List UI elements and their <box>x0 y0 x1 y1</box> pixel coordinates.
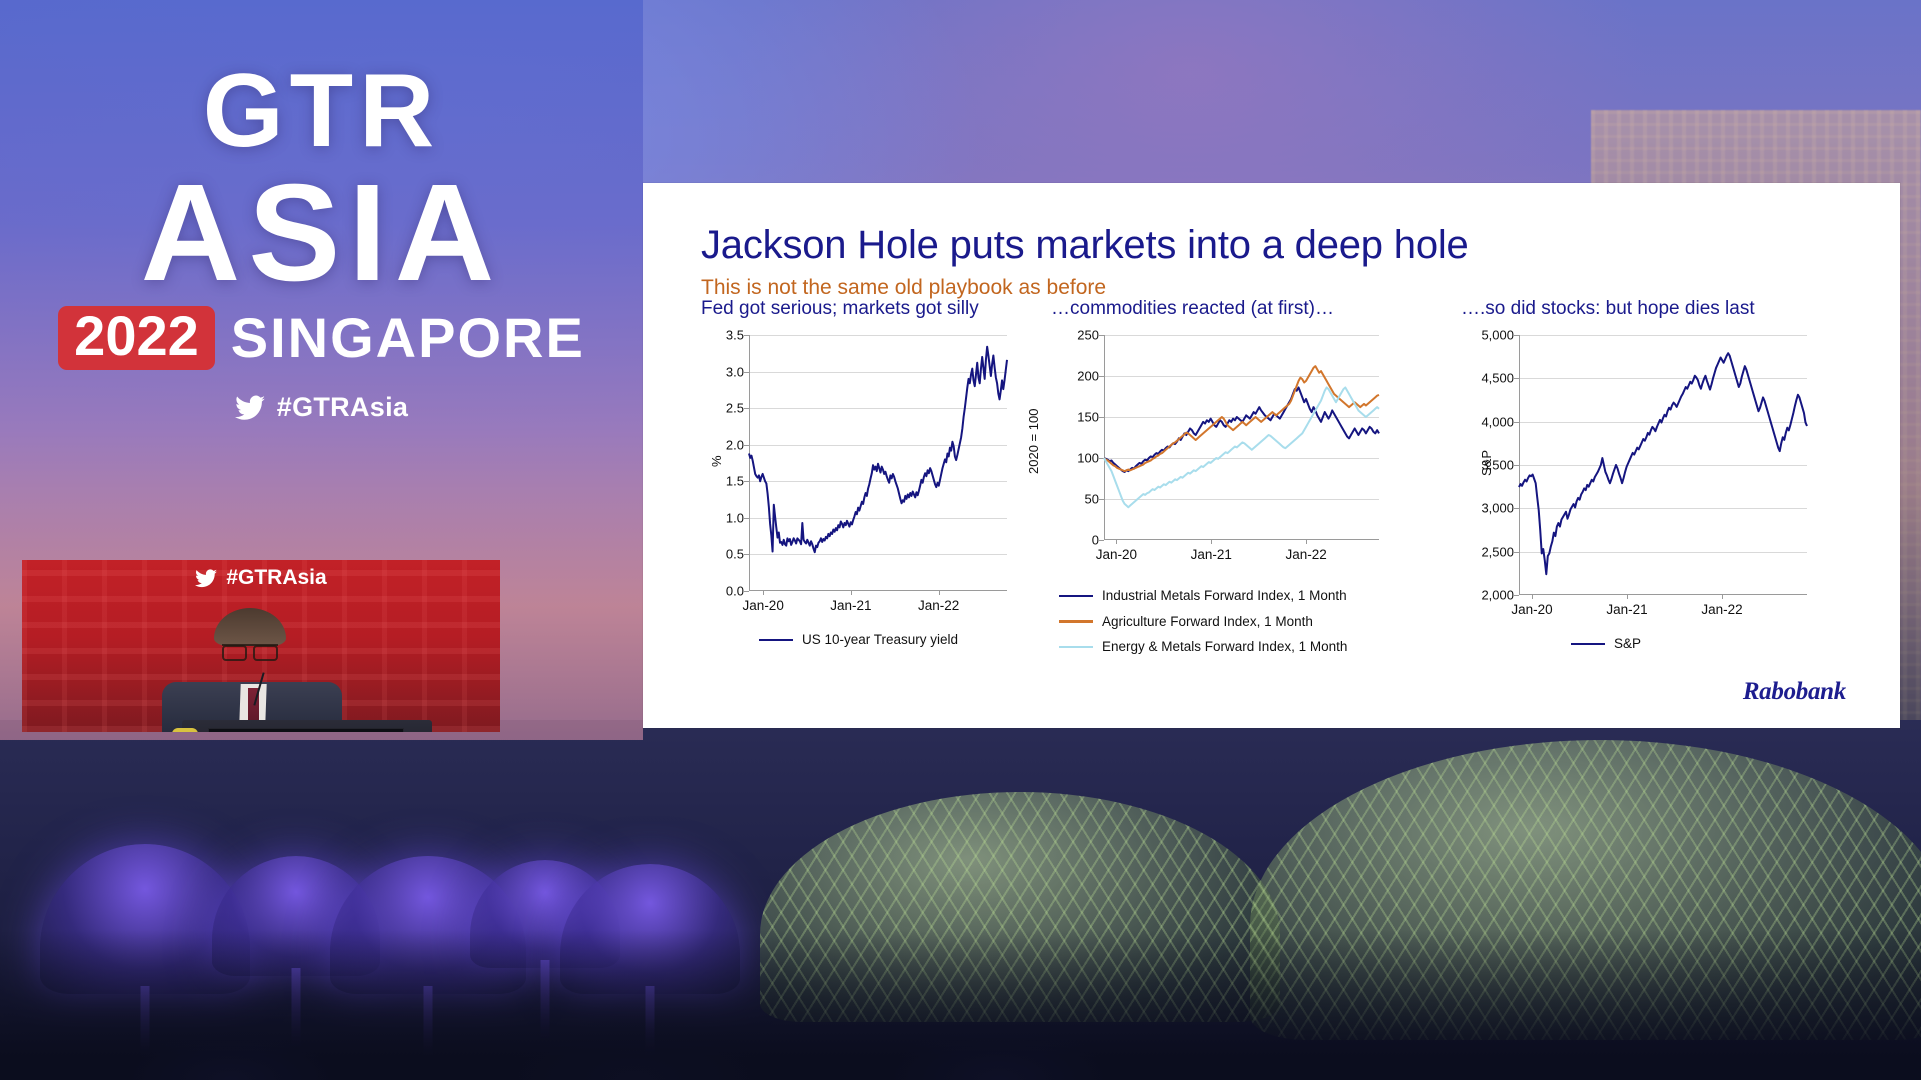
x-axis-tick-label: Jan-22 <box>918 598 959 613</box>
page-title: Jackson Hole puts markets into a deep ho… <box>701 223 1469 268</box>
legend-label: S&P <box>1614 631 1641 657</box>
series-layer <box>1104 335 1379 540</box>
legend-color-swatch <box>1059 646 1093 649</box>
rabobank-logo: Rabobank <box>1743 678 1846 706</box>
legend-color-swatch <box>759 639 793 642</box>
y-axis-tick-label: 50 <box>1085 492 1099 507</box>
y-axis-tick-label: 3.5 <box>726 328 744 343</box>
brand-hashtag: #GTRAsia <box>277 392 408 423</box>
y-axis-label: 2020 = 100 <box>1026 408 1041 473</box>
x-axis-tick-label: Jan-20 <box>1511 602 1552 617</box>
legend-color-swatch <box>1571 643 1605 646</box>
x-axis-tick-label: Jan-21 <box>1606 602 1647 617</box>
twitter-bird-icon <box>195 569 217 588</box>
y-tick-mark <box>1099 540 1104 541</box>
legend-item[interactable]: Industrial Metals Forward Index, 1 Month <box>1059 583 1449 609</box>
x-axis-tick-label: Jan-22 <box>1285 547 1326 562</box>
y-axis-tick-label: 150 <box>1077 410 1099 425</box>
legend-color-swatch <box>1059 595 1093 598</box>
legend-label: Industrial Metals Forward Index, 1 Month <box>1102 583 1347 609</box>
chart-panel-3: ….so did stocks: but hope dies last 2,00… <box>1461 335 1861 595</box>
y-axis-tick-label: 0.0 <box>726 584 744 599</box>
y-axis-tick-label: 3,000 <box>1481 501 1514 516</box>
y-axis-label: S&P <box>1479 450 1494 476</box>
y-axis-tick-label: 1.5 <box>726 474 744 489</box>
y-axis-tick-label: 100 <box>1077 451 1099 466</box>
y-axis-tick-label: 2.5 <box>726 401 744 416</box>
chart-legend-1: US 10-year Treasury yield <box>759 627 1089 653</box>
x-axis-tick-label: Jan-20 <box>743 598 784 613</box>
legend-item[interactable]: S&P <box>1571 631 1921 657</box>
legend-label: Energy & Metals Forward Index, 1 Month <box>1102 634 1347 660</box>
y-axis-tick-label: 2,500 <box>1481 544 1514 559</box>
y-axis-tick-label: 2,000 <box>1481 588 1514 603</box>
legend-item[interactable]: Energy & Metals Forward Index, 1 Month <box>1059 634 1449 660</box>
chart-plot-3: 2,0002,5003,0003,5004,0004,5005,000Jan-2… <box>1519 335 1807 595</box>
chart-panel-1: Fed got serious; markets got silly 0.00.… <box>701 335 1031 591</box>
y-axis-tick-label: 5,000 <box>1481 328 1514 343</box>
legend-color-swatch <box>1059 620 1093 623</box>
chart-legend-2: Industrial Metals Forward Index, 1 Month… <box>1059 583 1449 660</box>
brand-city: SINGAPORE <box>231 305 585 370</box>
chart-legend-3: S&P <box>1571 631 1921 657</box>
y-axis-tick-label: 1.0 <box>726 510 744 525</box>
brand-subtitle-row: 2022 SINGAPORE <box>0 305 643 370</box>
twitter-bird-icon <box>235 395 265 421</box>
y-axis-tick-label: 4,500 <box>1481 371 1514 386</box>
legend-label: US 10-year Treasury yield <box>802 627 958 653</box>
stage-hashtag: #GTRAsia <box>226 566 326 590</box>
x-axis-tick-label: Jan-21 <box>830 598 871 613</box>
legend-item[interactable]: Agriculture Forward Index, 1 Month <box>1059 609 1449 635</box>
series-layer <box>749 335 1007 591</box>
foreground-trees <box>0 930 1921 1080</box>
chart-plot-2: 050100150200250Jan-20Jan-21Jan-222020 = … <box>1104 335 1379 540</box>
y-axis-tick-label: 0 <box>1092 533 1099 548</box>
y-axis-tick-label: 250 <box>1077 328 1099 343</box>
y-axis-label: % <box>709 455 724 467</box>
y-axis-tick-label: 4,000 <box>1481 414 1514 429</box>
brand-region: ASIA <box>0 168 643 299</box>
podium-sign: MARINA BAY Sands® SINGAPORE <box>208 728 404 732</box>
year-badge: 2022 <box>58 306 215 370</box>
series-line <box>1519 353 1807 574</box>
x-axis-tick-label: Jan-20 <box>1096 547 1137 562</box>
y-axis-tick-label: 0.5 <box>726 547 744 562</box>
chart-plot-1: 0.00.51.01.52.02.53.03.5Jan-20Jan-21Jan-… <box>749 335 1007 591</box>
x-axis-tick-label: Jan-22 <box>1701 602 1742 617</box>
series-line <box>749 347 1007 553</box>
speaker-hand <box>172 728 198 732</box>
series-layer <box>1519 335 1807 595</box>
brand-gtr: GTR <box>0 62 643 161</box>
stage-hashtag-row: #GTRAsia <box>22 566 500 590</box>
y-axis-tick-label: 200 <box>1077 369 1099 384</box>
x-axis-tick-label: Jan-21 <box>1191 547 1232 562</box>
legend-label: Agriculture Forward Index, 1 Month <box>1102 609 1313 635</box>
speaker-glasses <box>222 644 278 655</box>
presentation-slide: Jackson Hole puts markets into a deep ho… <box>643 183 1900 728</box>
legend-item[interactable]: US 10-year Treasury yield <box>759 627 1089 653</box>
speaker-video-tile[interactable]: #GTRAsia MARINA BAY Sands® SINGAPORE <box>22 560 500 732</box>
y-axis-tick-label: 3.0 <box>726 364 744 379</box>
series-line <box>1104 387 1379 507</box>
chart-panel-2: …commodities reacted (at first)… 0501001… <box>1051 335 1441 540</box>
y-axis-tick-label: 2.0 <box>726 437 744 452</box>
y-tick-mark <box>1514 595 1519 596</box>
hashtag-row: #GTRAsia <box>0 392 643 423</box>
y-tick-mark <box>744 591 749 592</box>
